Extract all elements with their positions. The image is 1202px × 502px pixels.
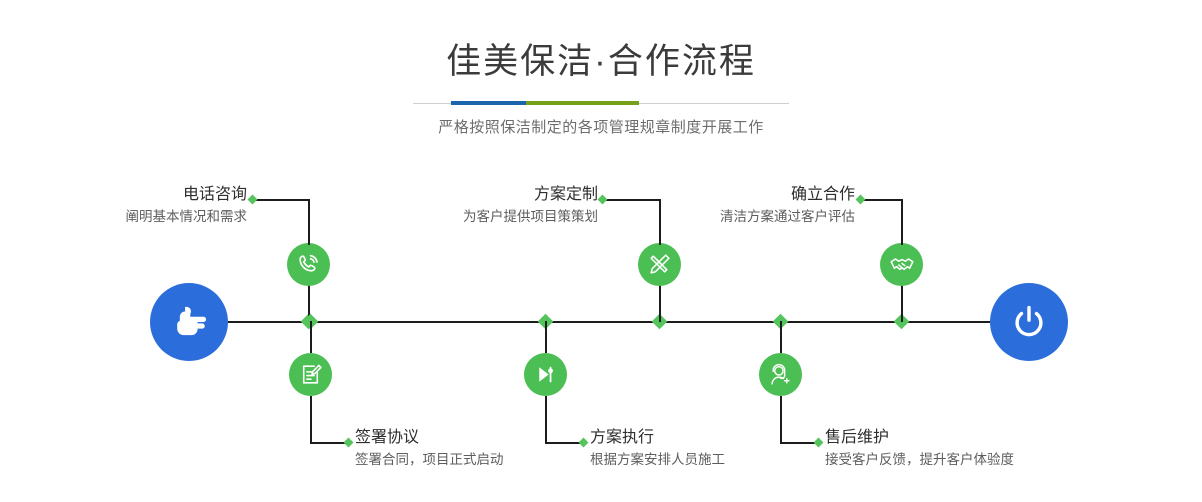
flow-diagram-page: 佳美保洁·合作流程 严格按照保洁制定的各项管理规章制度开展工作 [0, 0, 1202, 502]
step-desc: 为客户提供项目策策划 [400, 207, 598, 226]
pointing-hand-icon [168, 301, 210, 343]
step-label-establish-cooperation: 确立合作 清洁方案通过客户评估 [655, 185, 855, 226]
step-title: 方案执行 [590, 428, 840, 448]
step-desc: 清洁方案通过客户评估 [655, 207, 855, 226]
connector-stem-8-lower [780, 396, 782, 443]
handshake-icon [889, 252, 915, 278]
step-icon-sign-agreement[interactable] [289, 353, 332, 396]
step-icon-establish-cooperation[interactable] [880, 243, 923, 286]
step-title: 售后维护 [825, 428, 1085, 448]
step-label-plan-customize: 方案定制 为客户提供项目策策划 [400, 185, 598, 226]
play-execute-icon [533, 362, 558, 387]
step-label-phone-consult: 电话咨询 阐明基本情况和需求 [55, 185, 247, 226]
connector-tip-1 [248, 195, 258, 205]
connector-hbar-4 [603, 199, 660, 201]
power-icon [1009, 302, 1049, 342]
headset-support-icon [768, 362, 793, 387]
timeline-start-endpoint[interactable] [150, 283, 228, 361]
step-icon-after-sales[interactable] [759, 353, 802, 396]
connector-tip-7 [856, 195, 866, 205]
step-icon-plan-execute[interactable] [524, 353, 567, 396]
step-desc: 签署合同，项目正式启动 [355, 450, 605, 469]
step-label-after-sales: 售后维护 接受客户反馈，提升客户体验度 [825, 428, 1085, 469]
step-title: 签署协议 [355, 428, 605, 448]
connector-stem-2 [310, 321, 312, 353]
connector-stem-1-upper [308, 199, 310, 245]
step-title: 电话咨询 [55, 185, 247, 205]
pencil-ruler-icon [647, 252, 672, 277]
step-icon-plan-customize[interactable] [638, 243, 681, 286]
step-title: 确立合作 [655, 185, 855, 205]
connector-stem-2-lower [310, 396, 312, 443]
document-edit-icon [298, 362, 323, 387]
step-desc: 接受客户反馈，提升客户体验度 [825, 450, 1085, 469]
timeline-end-endpoint[interactable] [990, 283, 1068, 361]
step-desc: 阐明基本情况和需求 [55, 207, 247, 226]
step-title: 方案定制 [400, 185, 598, 205]
process-timeline: 电话咨询 阐明基本情况和需求 签署协议 [0, 0, 1202, 502]
connector-stem-5-lower [545, 396, 547, 443]
step-label-plan-execute: 方案执行 根据方案安排人员施工 [590, 428, 840, 469]
step-icon-phone-consult[interactable] [287, 243, 330, 286]
connector-stem-6 [780, 321, 782, 353]
step-label-sign-agreement: 签署协议 签署合同，项目正式启动 [355, 428, 605, 469]
connector-hbar-7 [861, 199, 902, 201]
step-desc: 根据方案安排人员施工 [590, 450, 840, 469]
connector-tip-4 [598, 195, 608, 205]
connector-hbar-1 [253, 199, 309, 201]
connector-stem-7-upper [901, 199, 903, 245]
connector-stem-3 [545, 321, 547, 353]
connector-tip-2 [344, 438, 354, 448]
phone-call-icon [296, 252, 321, 277]
